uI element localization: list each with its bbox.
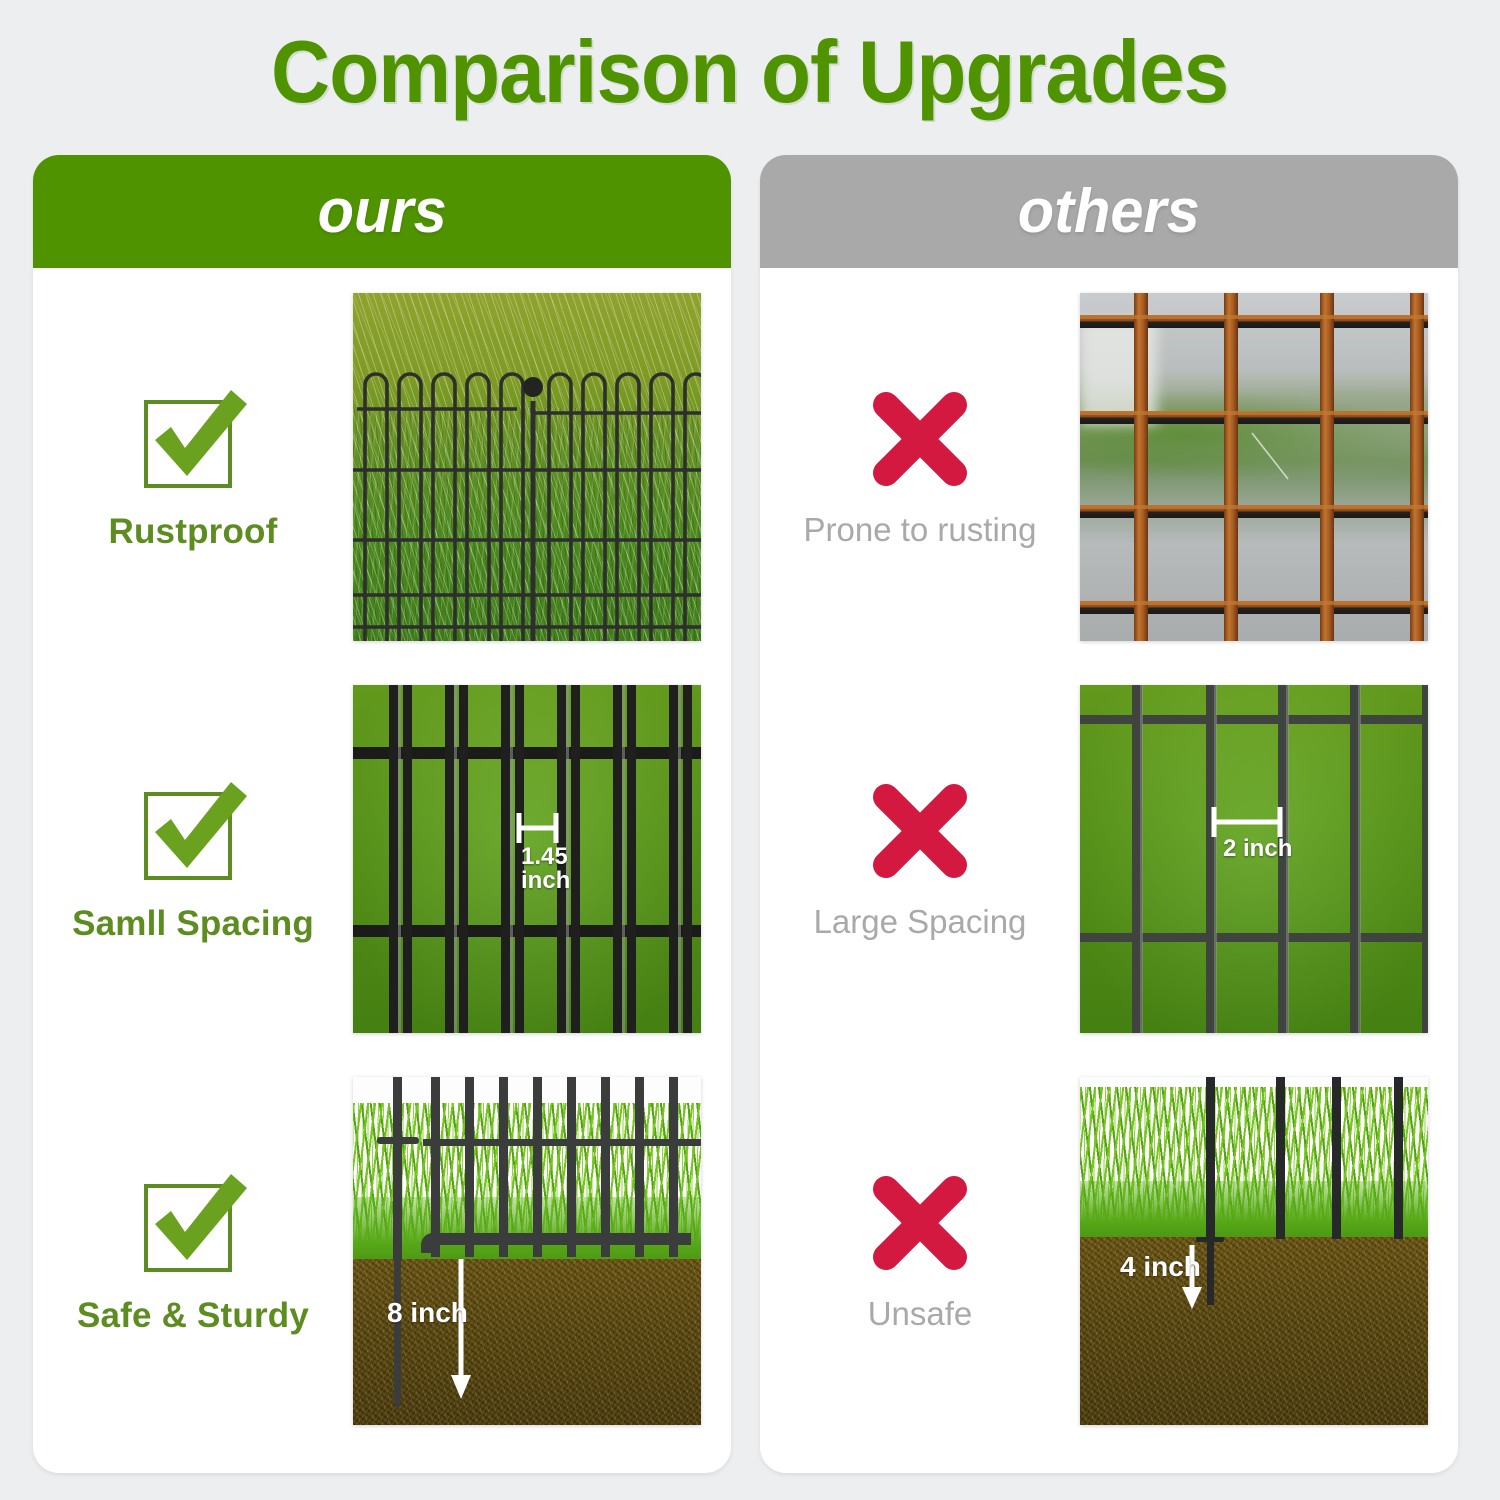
feature-label-rustproof: Rustproof [109,512,278,552]
check-mark-glyph [137,382,249,494]
x-icon [864,777,976,885]
feature-label-small-spacing: Samll Spacing [72,904,314,944]
check-icon [137,382,249,494]
x-mark-glyph [864,385,976,493]
feature-large-spacing: Large Spacing [760,777,1080,941]
page-title-wrap: Comparison of Upgrades [0,24,1500,120]
column-ours: ours Rustproof [33,155,731,1473]
feature-label-large-spacing: Large Spacing [814,903,1027,941]
feature-label-unsafe: Unsafe [868,1295,973,1333]
spacing-measure-unit: inch [521,869,570,893]
tab-others-label: others [1018,181,1200,243]
x-mark-glyph [864,777,976,885]
check-mark-glyph [137,1166,249,1278]
rainy-grass-loop-top-fence-photo [353,293,701,641]
tab-ours[interactable]: ours [33,155,731,268]
x-icon [864,1169,976,1277]
card-ours: Rustproof [33,268,731,1473]
spacing-measure-2: 2 inch [1223,837,1292,861]
depth-measure-4: 4 inch [1120,1253,1201,1282]
feature-unsafe: Unsafe [760,1169,1080,1333]
comparison-columns: ours Rustproof [0,155,1500,1485]
x-icon [864,385,976,493]
rusty-wire-mesh-photo [1080,293,1428,641]
feature-safe-sturdy: Safe & Sturdy [33,1166,353,1336]
check-mark-glyph [137,774,249,886]
tab-others[interactable]: others [760,155,1458,268]
check-icon [137,1166,249,1278]
spacing-measure-value: 1.45 [521,845,570,869]
card-others: Prone to rusting [760,268,1458,1473]
loop-top-fence-graphic [353,365,701,641]
row-prone-to-rusting: Prone to rusting [760,274,1458,659]
feature-label-prone-to-rusting: Prone to rusting [804,511,1037,549]
feature-rustproof: Rustproof [33,382,353,552]
column-others: others Prone to rusting [760,155,1458,1473]
row-unsafe: Unsafe [760,1058,1458,1443]
narrow-spacing-fence-photo: 1.45 inch [353,685,701,1033]
row-rustproof: Rustproof [33,274,731,659]
feature-small-spacing: Samll Spacing [33,774,353,944]
feature-label-safe-sturdy: Safe & Sturdy [77,1296,309,1336]
wide-spacing-fence-photo: 2 inch [1080,685,1428,1033]
row-small-spacing: Samll Spacing [33,666,731,1051]
deep-stake-soil-cross-section-photo: 8 inch [353,1077,701,1425]
depth-measure-8: 8 inch [387,1299,468,1328]
feature-prone-to-rusting: Prone to rusting [760,385,1080,549]
x-mark-glyph [864,1169,976,1277]
row-safe-sturdy: Safe & Sturdy [33,1058,731,1443]
shallow-stake-soil-cross-section-photo: 4 inch [1080,1077,1428,1425]
spacing-measure-1-45: 1.45 inch [521,845,570,894]
deep-stake-fence-graphic [353,1077,701,1425]
page-title: Comparison of Upgrades [271,24,1228,120]
check-icon [137,774,249,886]
row-large-spacing: Large Spacing [760,666,1458,1051]
tab-ours-label: ours [317,181,446,243]
rusty-mesh-grid [1080,293,1428,641]
